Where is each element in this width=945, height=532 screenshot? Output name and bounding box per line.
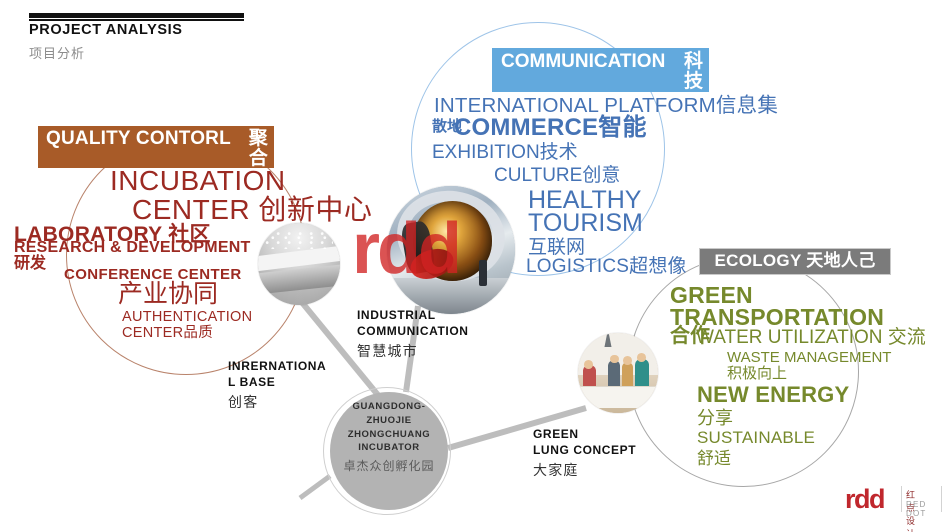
eco-word-hezuo: 合作 bbox=[670, 326, 710, 346]
eco-word-jijixiangshang: 积极向上 bbox=[727, 366, 787, 381]
quality-banner: QUALITY CONTORL 聚 合 bbox=[38, 126, 274, 168]
eco-word-new-energy: NEW ENERGY bbox=[697, 384, 849, 406]
quality-word-authentication: AUTHENTICATION bbox=[122, 310, 252, 325]
quality-banner-cn1: 聚 bbox=[249, 128, 268, 149]
eco-word-fenxiang: 分享 bbox=[697, 409, 733, 427]
quality-word-chanye: 产业协同 bbox=[118, 282, 218, 307]
logo-divider-right bbox=[941, 486, 942, 512]
comm-word-logistics: LOGISTICS超想像 bbox=[526, 257, 687, 276]
photo-person bbox=[479, 260, 487, 286]
node-green-lung-concept: GREEN LUNG CONCEPT 大家庭 bbox=[533, 426, 636, 480]
ecology-banner: ECOLOGY 天地人己 bbox=[699, 248, 891, 275]
quality-word-incubation: INCUBATION bbox=[110, 167, 286, 195]
hub-label-cn: 卓杰众创孵化园 bbox=[330, 458, 448, 475]
quality-word-center-pinzhi: CENTER品质 bbox=[122, 326, 213, 341]
node-ind-line1: INDUSTRIAL bbox=[357, 308, 436, 322]
node-industrial-communication: INDUSTRIAL COMMUNICATION 智慧城市 bbox=[357, 307, 469, 361]
communication-banner-cn1: 科 bbox=[684, 51, 703, 72]
logo-divider-left bbox=[901, 486, 902, 512]
node-international-base: INRERNATIONA L BASE 创客 bbox=[228, 358, 326, 412]
node-ind-cn: 智慧城市 bbox=[357, 342, 469, 361]
quality-word-research: RESEARCH & DEVELOPMENT bbox=[14, 240, 250, 256]
photo-table bbox=[578, 386, 658, 408]
hub-line-4: INCUBATOR bbox=[358, 442, 420, 453]
photo-head-2 bbox=[610, 355, 619, 364]
communication-banner-cn2: 技 bbox=[684, 71, 703, 92]
node-green-line1: GREEN bbox=[533, 427, 579, 441]
page-subtitle: 项目分析 bbox=[29, 43, 85, 62]
green-lung-photo bbox=[578, 333, 658, 413]
comm-word-commerce: COMMERCE智能 bbox=[454, 116, 647, 140]
hub-line-1: GUANGDONG- bbox=[352, 401, 425, 412]
hub-label: GUANGDONG- ZHUOJIE ZHONGCHUANG INCUBATOR… bbox=[330, 400, 448, 475]
logo-wordmark: rdd bbox=[845, 486, 884, 513]
rdd-watermark: rdd bbox=[352, 213, 459, 285]
eco-word-water-utilization: WATER UTILIZATION 交流 bbox=[696, 328, 926, 347]
comm-word-hulianwang: 互联网 bbox=[528, 238, 585, 257]
rdd-logo: rdd 红点设计 RED DOT bbox=[845, 486, 884, 513]
comm-word-culture: CULTURE创意 bbox=[494, 166, 620, 185]
node-intl-cn: 创客 bbox=[228, 393, 326, 412]
node-intl-line1: INRERNATIONA bbox=[228, 359, 326, 373]
photo-head-4 bbox=[637, 353, 646, 362]
quality-word-yanfa: 研发 bbox=[14, 256, 46, 272]
eco-word-shushi: 舒适 bbox=[697, 450, 731, 467]
comm-word-sandi: 散地 bbox=[432, 119, 462, 134]
photo-head-3 bbox=[623, 356, 632, 365]
hub-line-3: ZHONGCHUANG bbox=[348, 429, 431, 440]
communication-banner-en: COMMUNICATION bbox=[501, 52, 665, 72]
comm-word-exhibition: EXHIBITION技术 bbox=[432, 143, 578, 162]
laboratory-photo bbox=[258, 223, 340, 305]
photo-lights bbox=[265, 230, 334, 250]
quality-banner-en: QUALITY CONTORL bbox=[46, 129, 231, 149]
header-rule-bottom bbox=[29, 19, 244, 21]
comm-word-tourism: TOURISM bbox=[528, 211, 643, 236]
slide-canvas: PROJECT ANALYSIS 项目分析 QUALITY CONTORL 聚 … bbox=[0, 0, 945, 532]
page-title: PROJECT ANALYSIS bbox=[29, 22, 183, 38]
eco-word-sustainable: SUSTAINABLE bbox=[697, 429, 815, 446]
logo-name-en: RED DOT bbox=[906, 500, 927, 518]
quality-word-center: CENTER 创新中心 bbox=[132, 196, 372, 224]
header-rule-top bbox=[29, 13, 244, 18]
communication-banner: COMMUNICATION 科 技 bbox=[492, 48, 709, 92]
node-green-line2: LUNG CONCEPT bbox=[533, 443, 636, 457]
eco-word-waste-management: WASTE MANAGEMENT bbox=[727, 350, 891, 365]
hub-line-2: ZHUOJIE bbox=[366, 415, 411, 426]
node-ind-line2: COMMUNICATION bbox=[357, 324, 469, 338]
node-intl-line2: L BASE bbox=[228, 375, 275, 389]
node-green-cn: 大家庭 bbox=[533, 461, 636, 480]
